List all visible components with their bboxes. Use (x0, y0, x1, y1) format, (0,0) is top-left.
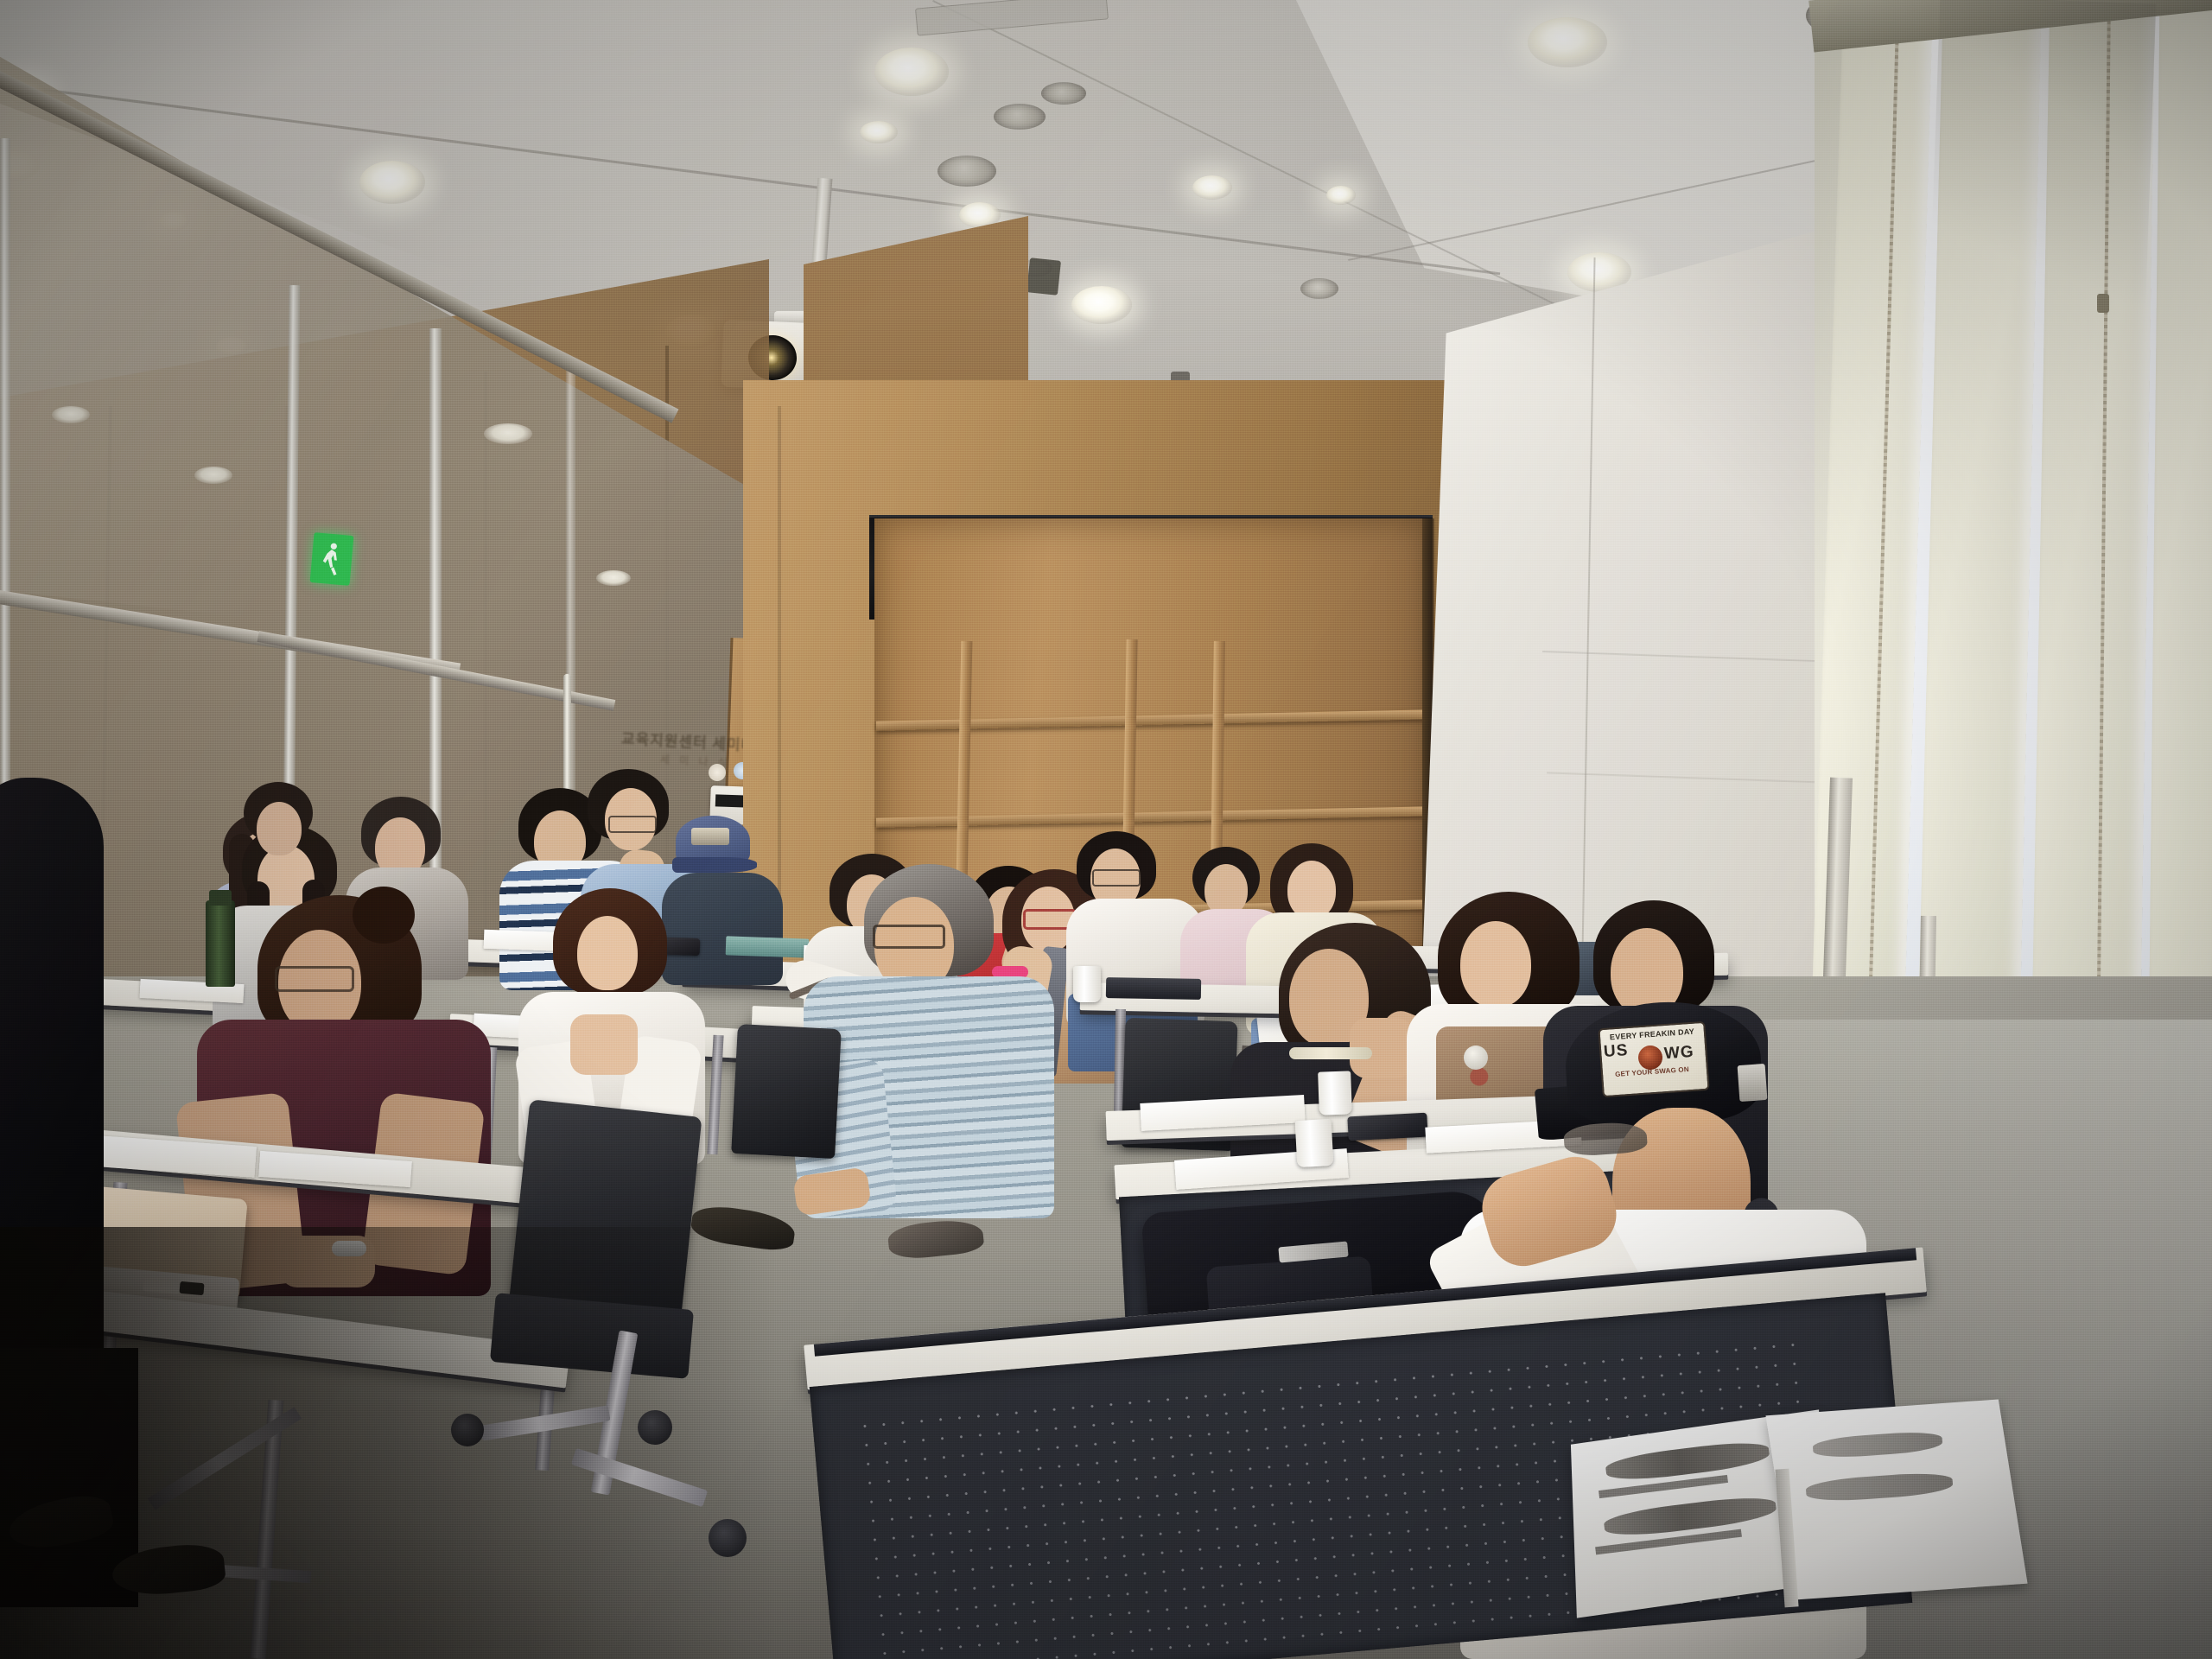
ceiling-spotlight-head (1027, 257, 1061, 296)
ceiling-speaker (1041, 82, 1086, 105)
downlight-icon (874, 48, 949, 96)
person-head (1287, 861, 1336, 919)
reflected-light (52, 406, 90, 423)
paper-cup (1295, 1119, 1334, 1167)
rolling-chair-back[interactable] (731, 1024, 842, 1159)
downlight-icon (1192, 175, 1232, 200)
downlight-icon (1326, 186, 1356, 205)
hair-bun (353, 887, 415, 944)
reflected-light (596, 570, 631, 586)
glasses-icon (275, 966, 354, 992)
person-head (577, 916, 638, 990)
downlight-icon (1071, 286, 1132, 324)
cap-side-tag (1738, 1064, 1768, 1102)
person-head (257, 802, 302, 855)
glasses-icon (873, 925, 945, 949)
paper-cup (1318, 1071, 1352, 1115)
downlight-icon (359, 161, 425, 204)
open-booklet-right-page[interactable] (1765, 1400, 2027, 1600)
brooch (1464, 1046, 1488, 1070)
floor-shadow (0, 1227, 778, 1659)
necklace (1289, 1047, 1372, 1059)
glasses-icon (1092, 869, 1141, 887)
downlight-icon (1528, 17, 1607, 67)
running-man-icon (318, 540, 344, 578)
person-head (1205, 864, 1248, 916)
glasses-icon (608, 816, 657, 833)
blind-shadow (1928, 0, 2157, 366)
cap-patch (691, 828, 729, 845)
person-torso (662, 873, 783, 985)
downlight-icon (860, 121, 898, 143)
person-hands (570, 1014, 638, 1075)
reflected-light (194, 467, 232, 484)
cap-patch-right-text: WG (1663, 1043, 1694, 1064)
paper-cup (1073, 966, 1101, 1002)
ceiling-sensor (1300, 278, 1338, 299)
water-bottle[interactable] (206, 900, 235, 987)
notebook (726, 936, 810, 957)
reflected-light (484, 423, 532, 444)
smartphone[interactable] (1347, 1113, 1427, 1141)
person-head (1460, 921, 1531, 1007)
ceiling-speaker (938, 156, 996, 187)
ceiling-speaker (994, 104, 1046, 130)
bottle-cap-icon (209, 890, 232, 906)
cap-patch-left-text: US (1603, 1041, 1629, 1062)
cap-brim (672, 857, 757, 873)
photograph-scene: 교육지원센터 세미나실 세 미 나 실 (0, 0, 2212, 1659)
tablet-device[interactable] (1106, 977, 1201, 1000)
